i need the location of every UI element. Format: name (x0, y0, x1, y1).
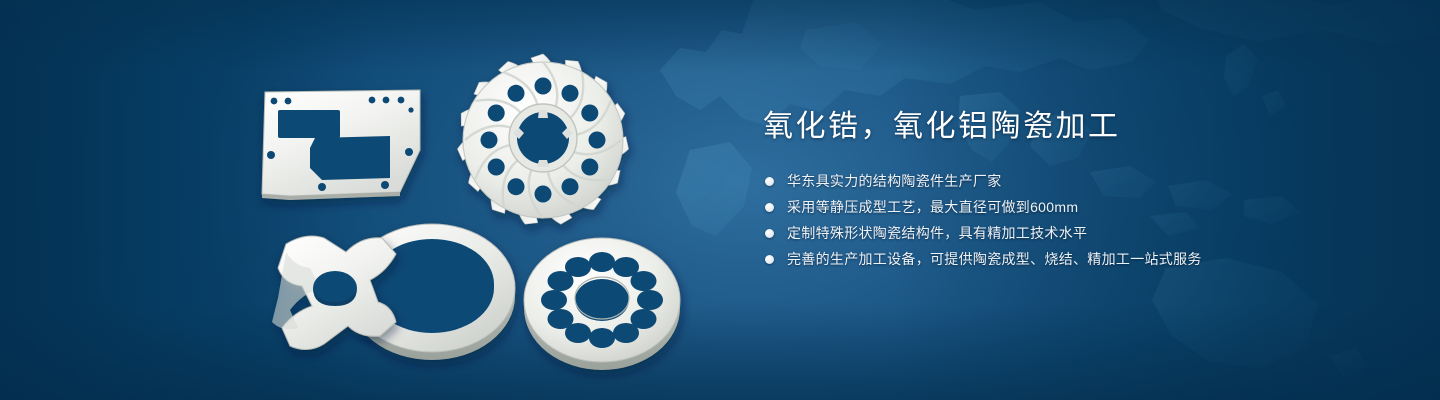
list-item-label: 完善的生产加工设备，可提供陶瓷成型、烧结、精加工一站式服务 (787, 251, 1202, 267)
bullet-dot-icon (765, 255, 774, 264)
list-item-label: 定制特殊形状陶瓷结构件，具有精加工技术水平 (787, 225, 1087, 241)
list-item: 定制特殊形状陶瓷结构件，具有精加工技术水平 (765, 225, 1383, 242)
list-item: 完善的生产加工设备，可提供陶瓷成型、烧结、精加工一站式服务 (765, 251, 1383, 268)
bullet-dot-icon (765, 203, 774, 212)
list-item-label: 采用等静压成型工艺，最大直径可做到600mm (787, 199, 1078, 215)
list-item: 采用等静压成型工艺，最大直径可做到600mm (765, 199, 1383, 216)
bullet-dot-icon (765, 229, 774, 238)
product-ceramic-perforated-disc (524, 238, 680, 370)
hero-banner: 氧化锆，氧化铝陶瓷加工 华东具实力的结构陶瓷件生产厂家 采用等静压成型工艺，最大… (0, 0, 1440, 400)
product-ceramic-plate (262, 90, 420, 200)
bullet-dot-icon (765, 177, 774, 186)
feature-list: 华东具实力的结构陶瓷件生产厂家 采用等静压成型工艺，最大直径可做到600mm 定… (765, 173, 1383, 268)
product-ceramic-impeller (456, 54, 630, 227)
list-item: 华东具实力的结构陶瓷件生产厂家 (765, 173, 1383, 190)
banner-copy: 氧化锆，氧化铝陶瓷加工 华东具实力的结构陶瓷件生产厂家 采用等静压成型工艺，最大… (763, 108, 1383, 277)
ceramic-products-group (0, 0, 760, 400)
page-title: 氧化锆，氧化铝陶瓷加工 (763, 108, 1383, 146)
list-item-label: 华东具实力的结构陶瓷件生产厂家 (787, 173, 1002, 189)
